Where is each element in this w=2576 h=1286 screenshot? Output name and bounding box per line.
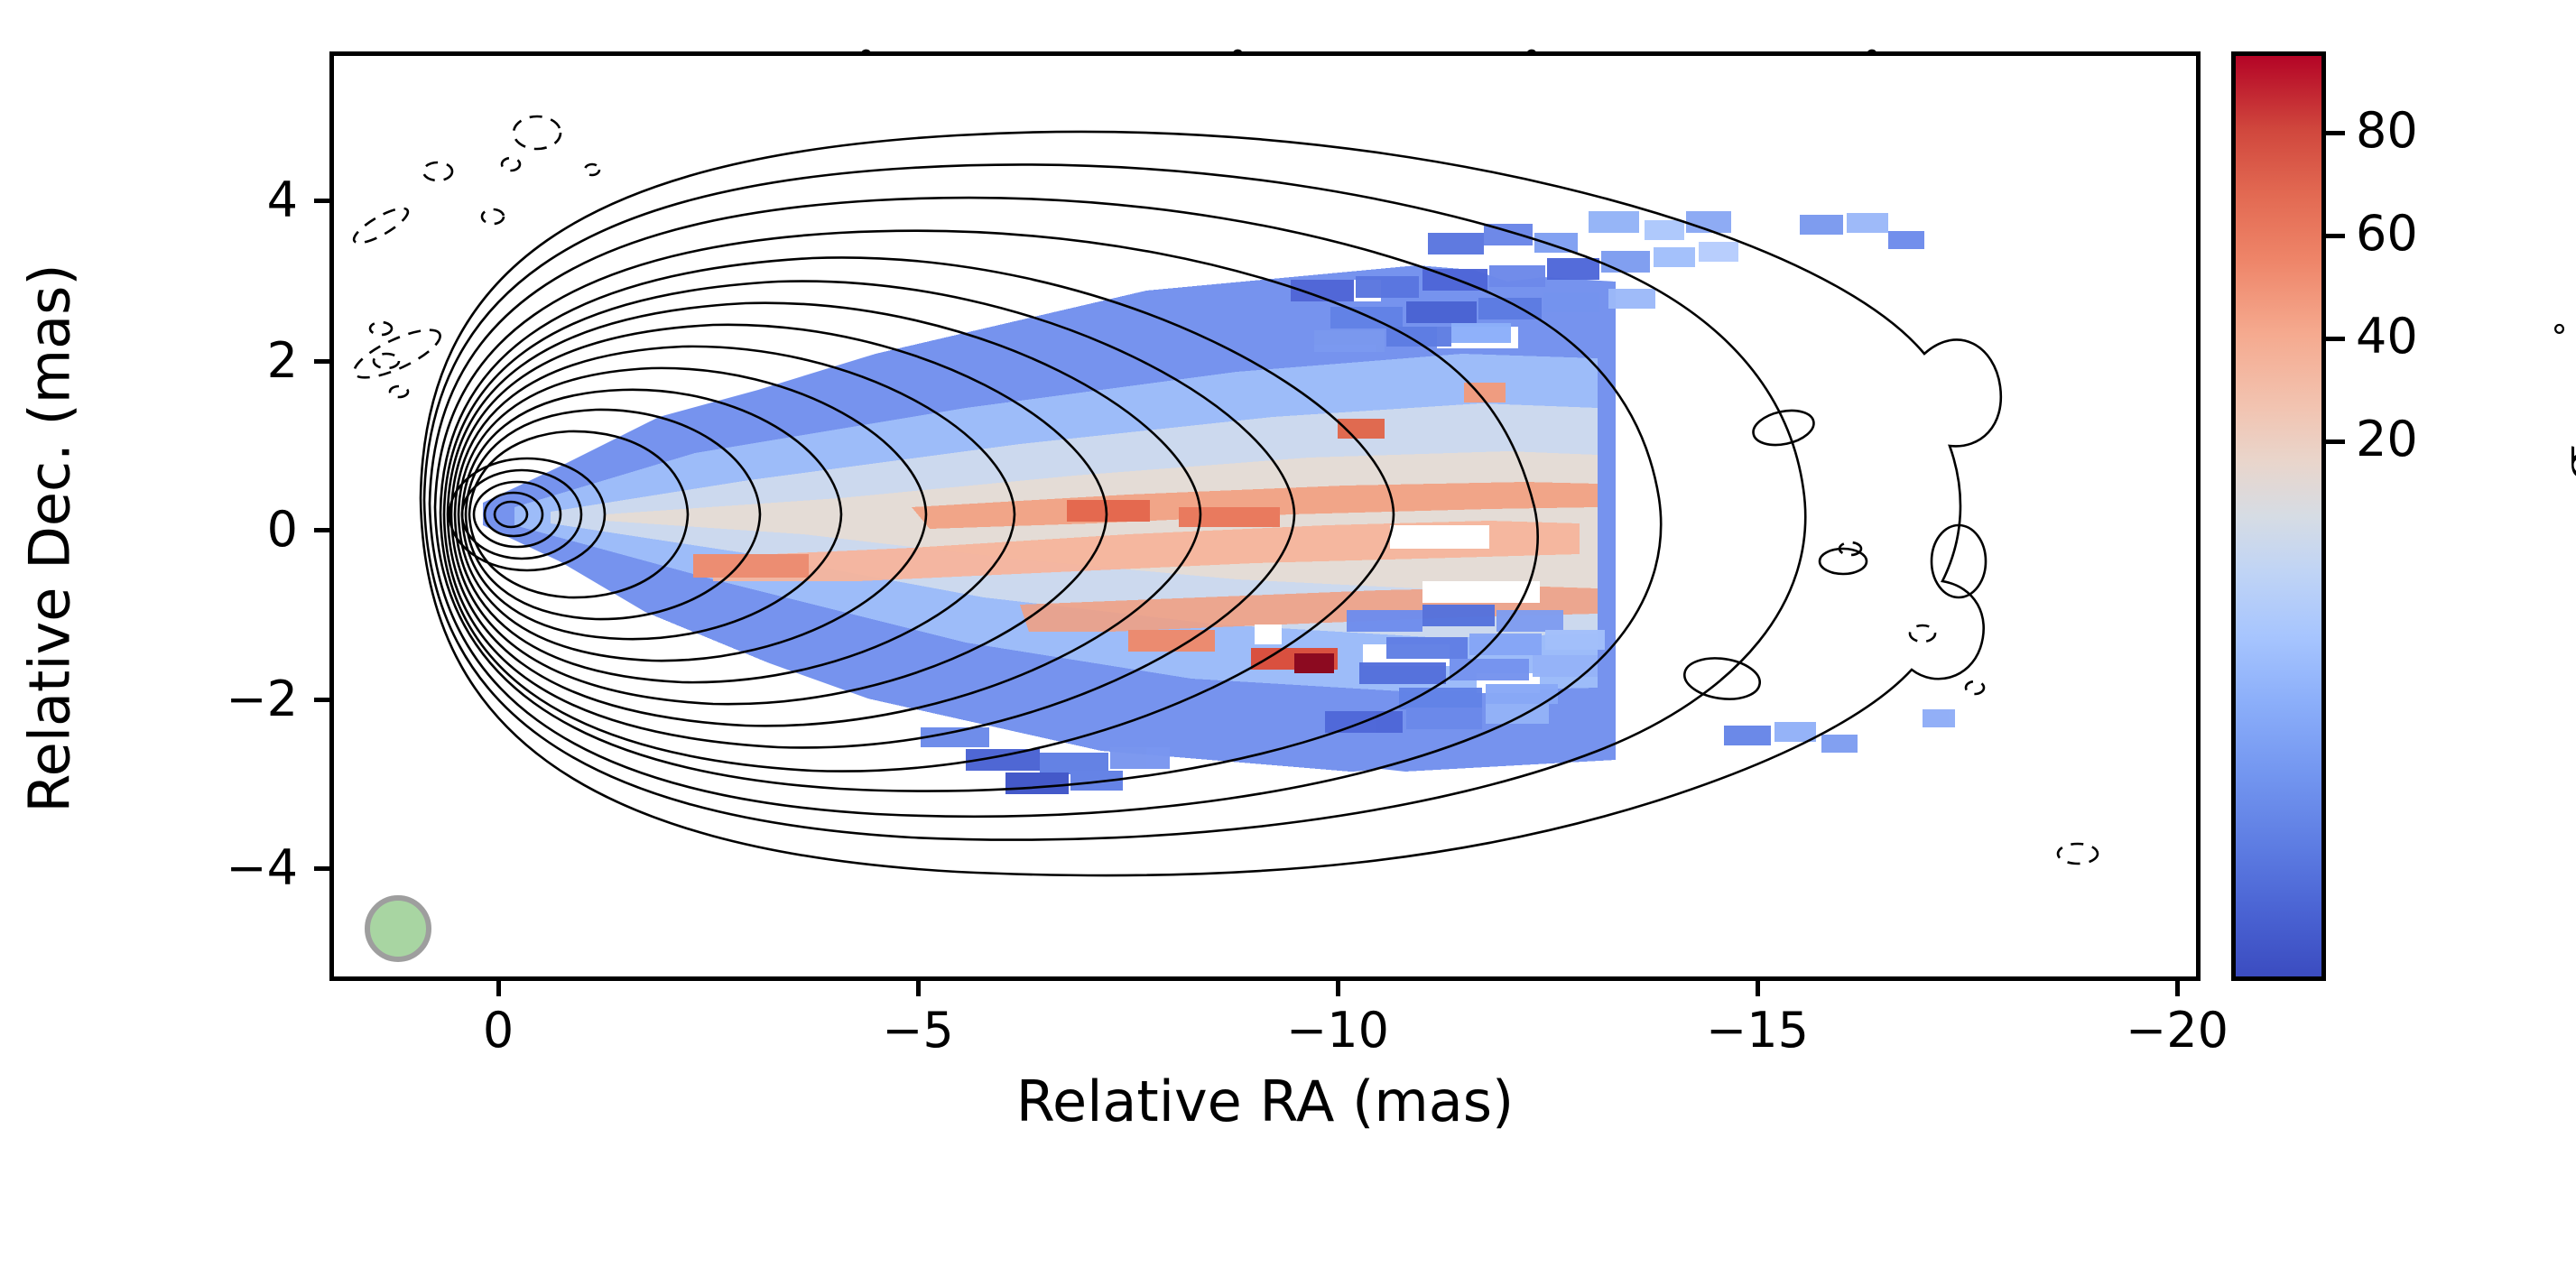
x-tick-label-m10: −10 [1247, 1002, 1428, 1059]
total-intensity-contours [334, 56, 2196, 976]
x-tick-m5 [916, 981, 921, 996]
y-tick-m4 [314, 866, 329, 871]
colorbar-label-40: 40 [2356, 308, 2418, 365]
x-axis-title: Relative RA (mas) [329, 1069, 2201, 1134]
y-tick-4 [314, 199, 329, 203]
x-tick-label-m5: −5 [828, 1002, 1008, 1059]
x-tick-m10 [1336, 981, 1340, 996]
y-tick-m2 [314, 698, 329, 702]
figure-canvas: θ = 0.5°, φ′ = 0.125°, η′ = 0.1°, ψ′ = 7… [0, 0, 2576, 1286]
plot-area [334, 56, 2196, 976]
y-axis-title: Relative Dec. (mas) [17, 74, 83, 1004]
colorbar-tick-80 [2326, 131, 2345, 135]
x-tick-0 [496, 981, 501, 996]
colorbar-label-20: 20 [2356, 411, 2418, 467]
restoring-beam-ellipse [365, 895, 431, 962]
x-tick-label-0: 0 [408, 1002, 588, 1059]
colorbar-comma: , [2550, 337, 2576, 370]
colorbar-sigma-symbol: σ [2550, 448, 2576, 484]
x-tick-label-m15: −15 [1667, 1002, 1848, 1059]
colorbar [2231, 51, 2326, 981]
x-tick-label-m20: −20 [2087, 1002, 2267, 1059]
x-tick-m20 [2175, 981, 2180, 996]
colorbar-tick-20 [2326, 439, 2345, 444]
colorbar-label-80: 80 [2356, 102, 2418, 159]
x-tick-m15 [1756, 981, 1760, 996]
colorbar-tick-60 [2326, 234, 2345, 238]
colorbar-label-60: 60 [2356, 205, 2418, 262]
y-tick-2 [314, 359, 329, 364]
colorbar-tick-40 [2326, 337, 2345, 341]
colorbar-degree-symbol: ° [2550, 320, 2576, 337]
y-tick-0 [314, 528, 329, 532]
colorbar-title: σEVPA, ° [2550, 0, 2576, 866]
plot-axes [329, 51, 2201, 981]
